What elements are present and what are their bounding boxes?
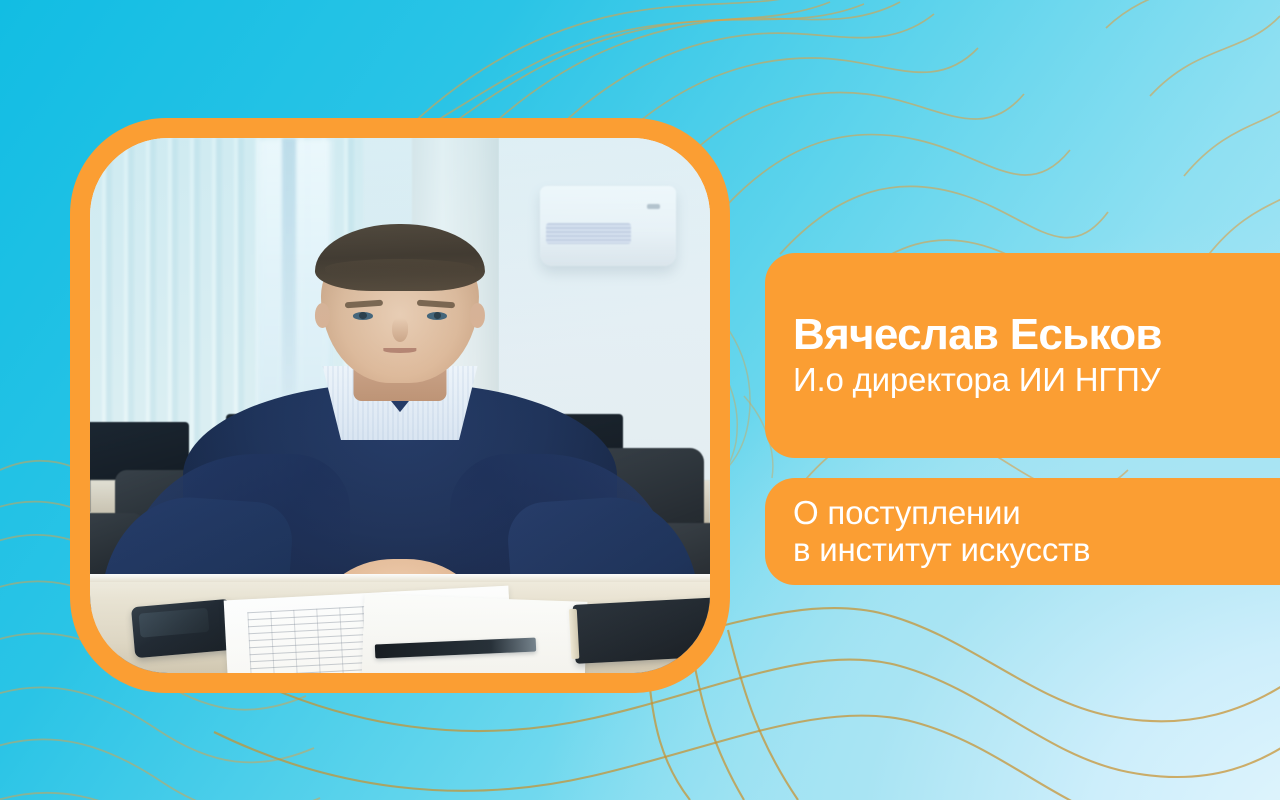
speaker-name-card: Вячеслав Еськов И.о директора ИИ НГПУ bbox=[765, 253, 1280, 458]
slide-canvas: Вячеслав Еськов И.о директора ИИ НГПУ О … bbox=[0, 0, 1280, 800]
topic-line-2: в институт искусств bbox=[793, 532, 1280, 568]
speaker-photo bbox=[90, 138, 710, 673]
speaker-name: Вячеслав Еськов bbox=[793, 312, 1280, 358]
photo-color-tint bbox=[90, 138, 710, 673]
topic-card: О поступлении в институт искусств bbox=[765, 478, 1280, 585]
speaker-role: И.о директора ИИ НГПУ bbox=[793, 362, 1280, 399]
topic-line-1: О поступлении bbox=[793, 495, 1280, 531]
speaker-photo-frame bbox=[70, 118, 730, 693]
